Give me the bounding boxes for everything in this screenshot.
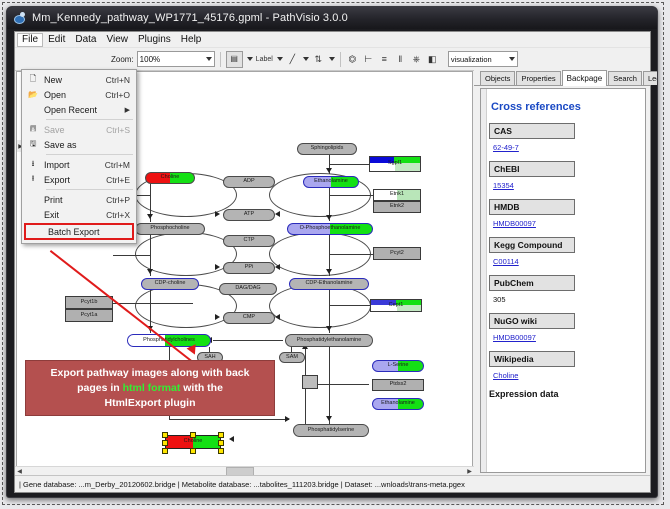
menu-item-print-accel: Ctrl+P [106,195,136,205]
screenshot-root: Mm_Kennedy_pathway_WP1771_45176.gpml - P… [0,0,670,509]
menu-item-export-accel: Ctrl+E [106,175,136,185]
arrow-icon [275,264,280,270]
status-bar: | Gene database: ...m_Derby_20120602.bri… [15,475,650,492]
window-title: Mm_Kennedy_pathway_WP1771_45176.gpml - P… [32,12,348,24]
arrow-icon [147,269,153,274]
menu-plugins[interactable]: Plugins [133,33,176,47]
arrow-icon [285,416,290,422]
line-chevron-down-icon[interactable] [303,57,309,61]
stack-icon[interactable]: ⎈ [410,53,423,66]
menu-separator [46,154,133,155]
menu-item-new-accel: Ctrl+N [106,75,136,85]
tab-backpage[interactable]: Backpage [562,70,608,86]
menu-item-save-label: Save [44,125,106,135]
zoom-value: 100% [140,55,160,64]
menu-edit[interactable]: Edit [43,33,70,47]
anchor-node[interactable] [302,375,318,389]
align-left-icon[interactable]: ⊢ [362,53,375,66]
node-phosphatidylethanolamine[interactable]: Phosphatidylethanolamine [285,334,373,347]
edge [329,195,373,196]
resize-handle[interactable] [190,448,196,454]
distribute-icon[interactable]: ‖ [394,53,407,66]
menu-separator [46,119,133,120]
menu-item-exit-accel: Ctrl+X [106,210,136,220]
callout-line-1: Export pathway images along with back [51,367,250,379]
gene-product-icon[interactable]: ▤ [226,51,243,68]
resize-handle[interactable] [162,432,168,438]
xref-name-kegg-compound: Kegg Compound [489,237,575,253]
arrow-icon [215,314,220,320]
xref-name-hmdb: HMDB [489,199,575,215]
arrow-icon [215,211,220,217]
arrow-icon [215,264,220,270]
node-pcyt2[interactable]: Pcyt2 [373,247,421,260]
arrow-icon [326,269,332,274]
menu-item-import[interactable]: ⭳ Import Ctrl+M [22,157,136,172]
edge [113,255,150,256]
menu-item-open-label: Open [44,90,105,100]
edge [329,347,330,425]
node-phosphocholine[interactable]: Phosphocholine [135,223,205,235]
node-cmp[interactable]: CMP [223,312,275,324]
cross-references-heading: Cross references [491,101,645,113]
scroll-left-icon[interactable]: ◀ [15,468,24,475]
xref-name-pubchem: PubChem [489,275,575,291]
menu-item-batch-export-label: Batch Export [48,227,132,237]
chevron-down-icon [206,57,212,61]
pathvisio-icon [13,12,26,25]
node-sphingolipids[interactable]: Sphingolipids [297,143,357,155]
menu-item-import-label: Import [44,160,105,170]
menu-help[interactable]: Help [176,33,207,47]
node-atp[interactable]: ATP [223,209,275,221]
menu-item-new[interactable]: 🗋 New Ctrl+N [22,72,136,87]
save-icon: 🖪 [22,123,44,137]
zoom-label: Zoom: [111,55,134,64]
resize-handle[interactable] [162,448,168,454]
align-center-icon[interactable]: ≡ [378,53,391,66]
zoom-combo[interactable]: 100% [137,51,215,67]
sidebar-tabs: Objects Properties Backpage Search Legen… [474,70,650,86]
xref-name-cas: CAS [489,123,575,139]
interaction-icon[interactable]: ⇅ [312,53,325,66]
node-phosphatidylserine[interactable]: Phosphatidylserine [293,424,369,437]
import-icon: ⭳ [22,158,44,172]
file-menu-dropdown[interactable]: 🗋 New Ctrl+N 📂 Open Ctrl+O Open Recent ▶… [21,69,137,244]
tab-legend[interactable]: Legend [643,71,658,85]
node-cdp-ethanolamine[interactable]: CDP-Ethanolamine [289,278,369,290]
menu-item-open-accel: Ctrl+O [105,90,136,100]
node-etnk1[interactable]: Etnk1 [373,189,421,201]
xref-value-chebi[interactable]: 15354 [493,181,645,190]
interaction-chevron-down-icon[interactable] [329,57,335,61]
label-chevron-down-icon[interactable] [277,57,283,61]
order-icon[interactable]: ◧ [426,53,439,66]
callout-line-3: HtmlExport plugin [105,397,196,409]
scroll-right-icon[interactable]: ▶ [465,468,474,475]
menu-item-open[interactable]: 📂 Open Ctrl+O [22,87,136,102]
menu-item-print-label: Print [44,195,106,205]
xref-name-chebi: ChEBI [489,161,575,177]
menu-item-save: 🖪 Save Ctrl+S [22,122,136,137]
xref-name-nugo-wiki: NuGO wiki [489,313,575,329]
toolbar: Zoom: 100% ▤ Label ╱ ⇅ ⏣ ⊢ ≡ ‖ ⎈ [15,48,650,71]
resize-handle[interactable] [190,432,196,438]
callout-line-2b: with the [180,382,223,394]
arrow-icon [275,314,280,320]
application-client-area: File Edit Data View Plugins Help Zoom: 1… [14,31,651,493]
menu-item-exit-label: Exit [44,210,106,220]
toolbar-separator [220,52,221,67]
title-bar: Mm_Kennedy_pathway_WP1771_45176.gpml - P… [7,7,657,29]
node-o-phosphoethanolamine[interactable]: O-Phosphoethanolamine [287,223,373,235]
new-file-icon: 🗋 [22,73,44,87]
menu-file[interactable]: File [17,33,43,47]
xref-value-kegg-compound[interactable]: C00114 [493,257,645,266]
open-folder-icon: 📂 [22,90,44,99]
visualization-combo[interactable]: visualization [448,51,518,67]
arrow-icon [326,416,332,421]
node-sam[interactable]: SAM [279,352,305,363]
backpage-panel: Cross references CAS 62-49-7 ChEBI 15354… [480,88,646,473]
menu-item-new-label: New [44,75,106,85]
edge [329,305,371,306]
node-etnk2[interactable]: Etnk2 [373,201,421,213]
node-cdp-choline[interactable]: CDP-choline [141,278,199,290]
callout-line-2a: pages in [77,382,123,394]
xref-value-hmdb[interactable]: HMDB00097 [493,219,645,228]
toolbar-separator-2 [340,52,341,67]
menu-item-open-recent[interactable]: Open Recent ▶ [22,102,136,117]
menu-item-open-recent-label: Open Recent [44,105,125,115]
edge [329,254,373,255]
node-l-serine[interactable]: L-Serine [372,360,424,372]
visualization-value: visualization [451,55,492,64]
node-sgpl1[interactable]: Sgpl1 [369,156,421,172]
node-ethanolamine[interactable]: Ethanolamine [303,176,359,188]
menu-item-save-as[interactable]: 🖫 Save as [22,137,136,152]
expression-data-heading: Expression data [489,389,645,399]
tab-objects[interactable]: Objects [480,71,515,85]
menu-item-import-accel: Ctrl+M [105,160,136,170]
resize-handle[interactable] [218,440,224,446]
node-ppi[interactable]: PPi [223,262,275,274]
label-button[interactable]: Label [256,56,273,63]
menu-item-export-label: Export [44,175,106,185]
node-cept1[interactable]: Cept1 [370,299,422,312]
node-pcyt1b[interactable]: Pcyt1b [65,296,113,309]
arrow-icon [147,214,153,219]
edge [169,419,289,420]
resize-handle[interactable] [218,432,224,438]
xref-value-wikipedia[interactable]: Choline [493,371,645,380]
menu-item-batch-export[interactable]: Batch Export [24,223,134,240]
menu-data[interactable]: Data [70,33,101,47]
edge [113,303,193,304]
gene-product-chevron-down-icon[interactable] [247,57,253,61]
resize-handle[interactable] [162,440,168,446]
node-choline[interactable]: Choline [145,172,195,184]
arrow-icon [275,211,280,217]
node-ethanolamine-2[interactable]: Ethanolamine [372,398,424,410]
submenu-chevron-right-icon: ▶ [125,106,136,114]
reaction-loop [269,284,371,328]
edge [213,340,283,341]
sidebar: Objects Properties Backpage Search Legen… [474,70,650,476]
save-as-icon: 🖫 [22,138,44,152]
annotation-callout: Export pathway images along with back pa… [25,360,275,416]
xref-name-wikipedia: Wikipedia [489,351,575,367]
node-dag[interactable]: DAG/DAG [219,283,277,295]
node-cept1-label: Cept1 [389,303,404,309]
node-sgpl1-label: Sgpl1 [388,161,402,167]
anchor-icon[interactable]: ⏣ [346,53,359,66]
panel-gutter [481,89,487,472]
arrow-icon [326,326,332,331]
menu-item-export[interactable]: ⭱ Export Ctrl+E [22,172,136,187]
node-ptdss2[interactable]: Ptdss2 [372,379,424,391]
menu-item-print[interactable]: Print Ctrl+P [22,192,136,207]
xref-value-pubchem: 305 [493,295,645,304]
tab-search[interactable]: Search [608,71,642,85]
node-ctp[interactable]: CTP [223,235,275,247]
application-window: Mm_Kennedy_pathway_WP1771_45176.gpml - P… [6,6,658,498]
line-icon[interactable]: ╱ [286,53,299,66]
menu-item-save-as-label: Save as [44,140,130,150]
edge [329,164,371,165]
status-text: | Gene database: ...m_Derby_20120602.bri… [15,480,465,489]
menu-item-exit[interactable]: Exit Ctrl+X [22,207,136,222]
visualization-chevron-down-icon [509,57,515,61]
node-adp[interactable]: ADP [223,176,275,188]
menu-bar: File Edit Data View Plugins Help [15,32,650,48]
resize-handle[interactable] [218,448,224,454]
tab-properties[interactable]: Properties [516,71,560,85]
callout-highlight: html format [123,382,181,394]
export-icon: ⭱ [22,173,44,187]
menu-separator [46,189,133,190]
arrow-icon [326,168,332,173]
xref-value-cas[interactable]: 62-49-7 [493,143,645,152]
xref-value-nugo-wiki[interactable]: HMDB00097 [493,333,645,342]
arrow-icon [326,215,332,220]
node-pcyt1a[interactable]: Pcyt1a [65,309,113,322]
menu-view[interactable]: View [101,33,133,47]
menu-item-save-accel: Ctrl+S [106,125,136,135]
arrow-icon [229,436,234,442]
selected-node-choline[interactable]: Choline [165,435,221,449]
